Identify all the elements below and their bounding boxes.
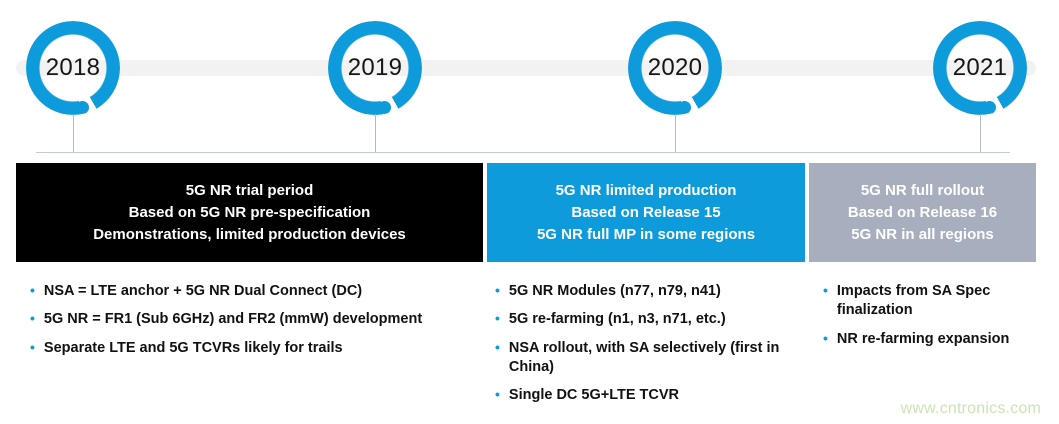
bullet-item: •Separate LTE and 5G TCVRs likely for tr… — [30, 339, 483, 358]
phase-panel-trial-period[interactable]: 5G NR trial period Based on 5G NR pre-sp… — [16, 163, 483, 262]
bullet-column-trial-period: •NSA = LTE anchor + 5G NR Dual Connect (… — [16, 278, 483, 414]
year-label: 2021 — [933, 21, 1027, 115]
year-label: 2020 — [628, 21, 722, 115]
bullet-text: NSA rollout, with SA selectively (first … — [509, 339, 805, 378]
bullet-text: Single DC 5G+LTE TCVR — [509, 386, 805, 405]
phase-panel-line: Demonstrations, limited production devic… — [93, 226, 406, 243]
phase-panel-line: 5G NR limited production — [556, 182, 737, 199]
bullet-item: •Impacts from SA Spec finalization — [823, 282, 1036, 321]
phase-header-panels: 5G NR trial period Based on 5G NR pre-sp… — [16, 163, 1036, 262]
year-node-2020[interactable]: 2020 — [628, 21, 722, 115]
bullet-dot-icon: • — [495, 338, 500, 357]
bullet-dot-icon: • — [495, 281, 500, 300]
bullet-item: •5G NR Modules (n77, n79, n41) — [495, 282, 805, 301]
bullet-dot-icon: • — [495, 385, 500, 404]
bullet-text: NR re-farming expansion — [837, 330, 1036, 349]
phase-panel-line: 5G NR full rollout — [861, 182, 984, 199]
bullet-text: 5G NR = FR1 (Sub 6GHz) and FR2 (mmW) dev… — [44, 310, 483, 329]
bullet-item: •Single DC 5G+LTE TCVR — [495, 386, 805, 405]
bullet-text: Impacts from SA Spec finalization — [837, 282, 1036, 321]
bullet-text: 5G NR Modules (n77, n79, n41) — [509, 282, 805, 301]
bullet-item: •NR re-farming expansion — [823, 330, 1036, 349]
timeline-band — [16, 60, 1036, 76]
connector-vertical-line — [73, 114, 74, 153]
bullet-text: 5G re-farming (n1, n3, n71, etc.) — [509, 310, 805, 329]
bullet-item: •5G re-farming (n1, n3, n71, etc.) — [495, 310, 805, 329]
bullet-text: NSA = LTE anchor + 5G NR Dual Connect (D… — [44, 282, 483, 301]
bullet-item: •5G NR = FR1 (Sub 6GHz) and FR2 (mmW) de… — [30, 310, 483, 329]
phase-panel-line: 5G NR full MP in some regions — [537, 226, 755, 243]
bullet-dot-icon: • — [30, 309, 35, 328]
year-node-2019[interactable]: 2019 — [328, 21, 422, 115]
bullet-dot-icon: • — [823, 281, 828, 300]
year-node-2021[interactable]: 2021 — [933, 21, 1027, 115]
bullet-item: •NSA = LTE anchor + 5G NR Dual Connect (… — [30, 282, 483, 301]
phase-panel-limited-production[interactable]: 5G NR limited production Based on Releas… — [487, 163, 805, 262]
bullet-dot-icon: • — [495, 309, 500, 328]
connector-vertical-line — [675, 114, 676, 153]
bullet-dot-icon: • — [823, 329, 828, 348]
connector-horizontal-line — [36, 152, 1010, 153]
bullet-dot-icon: • — [30, 338, 35, 357]
connector-vertical-line — [375, 114, 376, 153]
bullet-item: •NSA rollout, with SA selectively (first… — [495, 339, 805, 378]
bullet-column-limited-production: •5G NR Modules (n77, n79, n41)•5G re-far… — [487, 278, 805, 414]
phase-panel-line: Based on Release 15 — [571, 204, 720, 221]
bullet-text: Separate LTE and 5G TCVRs likely for tra… — [44, 339, 483, 358]
bullet-dot-icon: • — [30, 281, 35, 300]
year-label: 2018 — [26, 21, 120, 115]
phase-panel-line: Based on 5G NR pre-specification — [129, 204, 371, 221]
phase-panel-full-rollout[interactable]: 5G NR full rollout Based on Release 16 5… — [809, 163, 1036, 262]
connector-vertical-line — [980, 114, 981, 152]
phase-panel-line: 5G NR trial period — [186, 182, 314, 199]
site-watermark: www.cntronics.com — [901, 400, 1041, 418]
phase-detail-columns: •NSA = LTE anchor + 5G NR Dual Connect (… — [16, 278, 1036, 414]
year-label: 2019 — [328, 21, 422, 115]
phase-panel-line: Based on Release 16 — [848, 204, 997, 221]
bullet-column-full-rollout: •Impacts from SA Spec finalization•NR re… — [809, 278, 1036, 414]
year-node-2018[interactable]: 2018 — [26, 21, 120, 115]
phase-panel-line: 5G NR in all regions — [851, 226, 994, 243]
